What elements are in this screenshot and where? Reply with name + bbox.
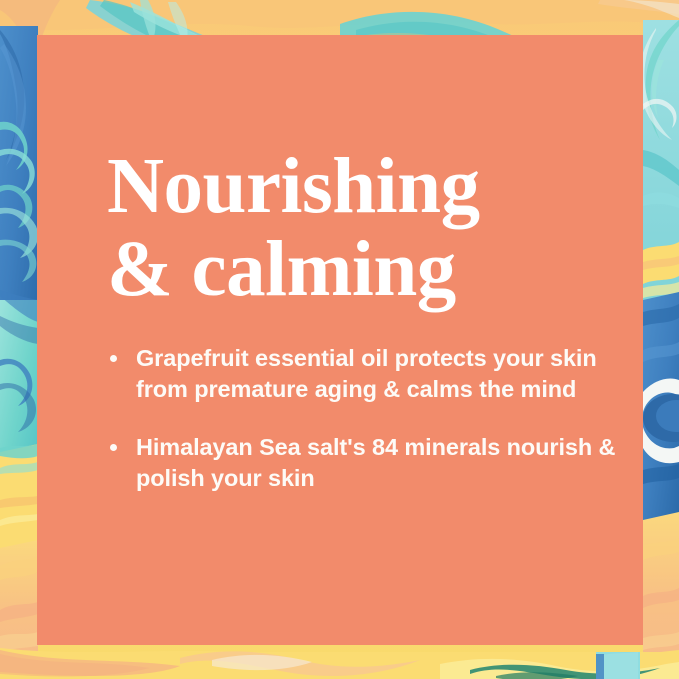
bullet-dot-icon [110,444,117,451]
list-item: Grapefruit essential oil protects your s… [107,343,617,405]
page-title: Nourishing & calming [107,145,617,311]
list-item-text: Grapefruit essential oil protects your s… [136,343,617,405]
benefits-list: Grapefruit essential oil protects your s… [107,343,617,494]
bullet-dot-icon [110,355,117,362]
headline-line-1: Nourishing [107,145,617,228]
headline-line-2: & calming [107,228,617,311]
coral-content-panel: Nourishing & calming Grapefruit essentia… [37,35,643,645]
product-graphic-canvas: Nourishing & calming Grapefruit essentia… [0,0,679,679]
list-item: Himalayan Sea salt's 84 minerals nourish… [107,432,617,494]
list-item-text: Himalayan Sea salt's 84 minerals nourish… [136,432,617,494]
